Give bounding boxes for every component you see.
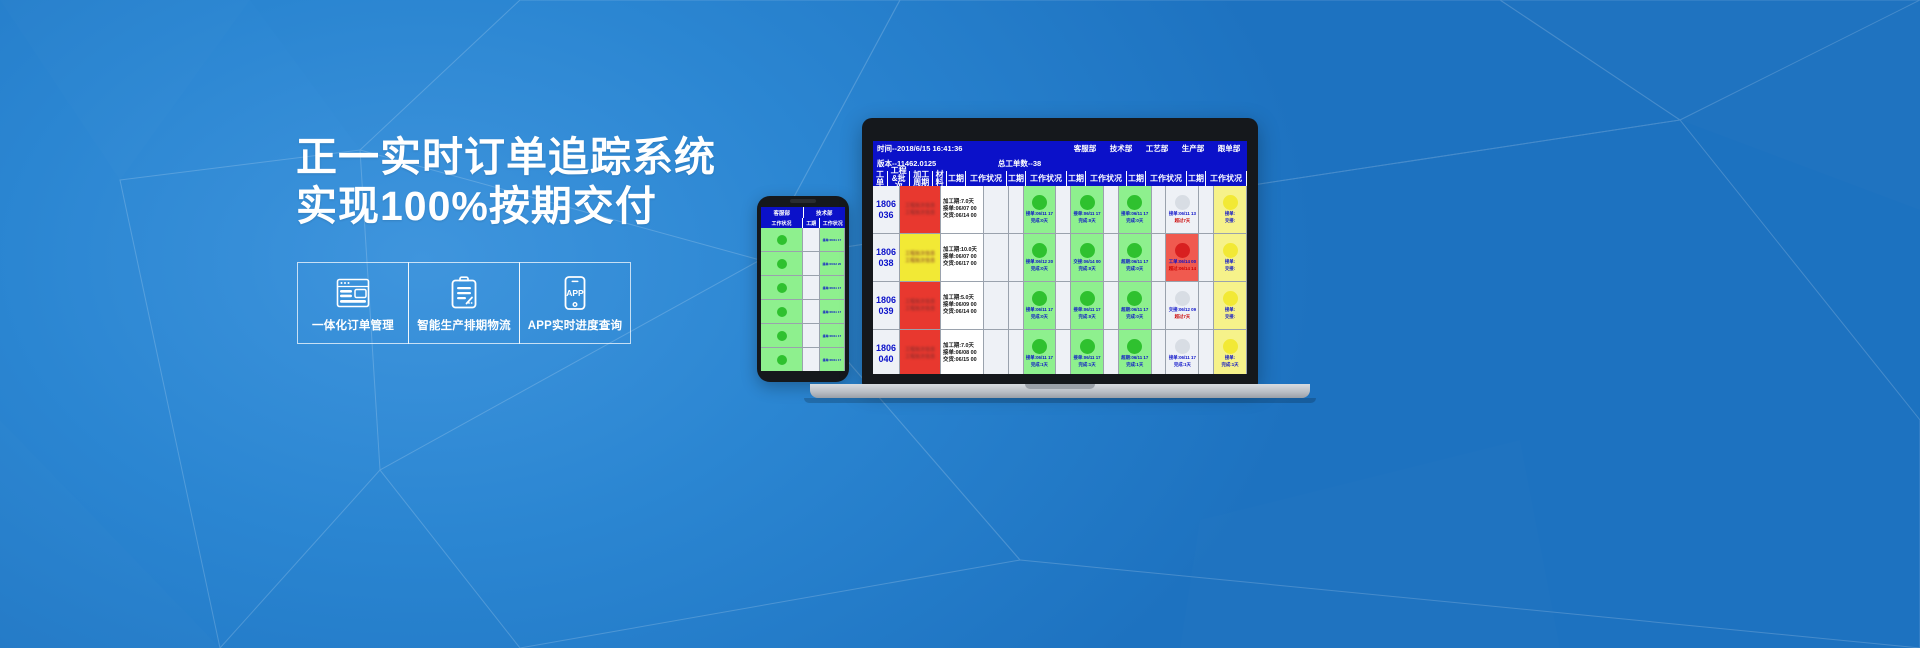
status-note-secondary: 完成:0天: [1126, 314, 1143, 320]
phone-cell-duration: [803, 252, 820, 275]
status-note-primary: 接单:06/11 17: [1169, 355, 1196, 361]
col-work-status-5: 工作状况: [1206, 171, 1247, 186]
cell-work-status-2[interactable]: 接单:06/11 17完成:0天: [1071, 186, 1104, 233]
order-no-bottom: 039: [879, 306, 894, 317]
project-batch-text: 工程批次信息工程批次信息: [905, 203, 935, 217]
cell-duration-4: [1152, 234, 1167, 281]
received-date: 接单:06/09 00: [943, 302, 977, 309]
order-no-bottom: 036: [879, 210, 894, 221]
phone-status-note: 接单:06/11 17: [823, 310, 842, 314]
delivery-date: 交货:06/14 00: [943, 213, 977, 220]
page-title: 正一实时订单追踪系统 实现100%按期交付: [296, 133, 726, 231]
delivery-date: 交货:06/14 00: [943, 309, 977, 316]
erp-order-tracking-board: 时间--2018/6/15 16:41:36 客服部 技术部 工艺部 生产部 跟…: [873, 141, 1247, 374]
cell-work-status-5[interactable]: 接单:交接:: [1214, 282, 1247, 329]
cycle-days: 加工期:5.0天: [943, 295, 974, 302]
cell-duration-3: [1104, 330, 1119, 374]
cycle-days: 加工期:10.0天: [943, 247, 977, 254]
cell-material: [984, 330, 1009, 374]
cell-work-status-1[interactable]: 接单:06/11 17完成:0天: [1024, 282, 1057, 329]
status-note-secondary: 完成:1天: [1222, 362, 1239, 368]
board-column-header: 工单 工程&批次 加工周期 材料 工期工作状况工期工作状况工期工作状况工期工作状…: [873, 171, 1247, 186]
phone-status-note: 接单:06/11 17: [823, 334, 842, 338]
status-indicator-green: [1032, 291, 1047, 306]
feature-label: 一体化订单管理: [312, 317, 394, 333]
laptop-screen: 时间--2018/6/15 16:41:36 客服部 技术部 工艺部 生产部 跟…: [873, 141, 1247, 374]
phone-cell-work-status-left[interactable]: [761, 348, 803, 371]
cell-work-status-3[interactable]: 超期:06/11 17完成:0天: [1119, 234, 1152, 281]
phone-table-row[interactable]: 接单:06/11 17: [761, 276, 845, 300]
cycle-days: 加工期:7.0天: [943, 343, 974, 350]
status-note-secondary: 完成:0天: [1079, 314, 1096, 320]
cell-material: [984, 282, 1009, 329]
cell-order-no: 1806036: [873, 186, 900, 233]
headline-line-2: 实现100%按期交付: [296, 182, 726, 231]
status-indicator-green: [777, 355, 787, 365]
phone-dept-technical: 技术部: [804, 207, 846, 218]
cell-work-status-4[interactable]: 交接:06/12 09超过7天: [1166, 282, 1199, 329]
phone-erp-board: 客服部 技术部 工作状况 工期 工作状况 接单:06/11 17接单:06/12…: [761, 207, 845, 371]
cell-work-status-2[interactable]: 交接:06/14 00完成:0天: [1071, 234, 1104, 281]
hero-banner: 正一实时订单追踪系统 实现100%按期交付 一体化订单管理: [0, 0, 1920, 648]
feature-label: 智能生产排期物流: [417, 317, 511, 333]
cycle-days: 加工期:7.0天: [943, 199, 974, 206]
phone-cell-work-status-left[interactable]: [761, 228, 803, 251]
cell-cycle: 加工期:10.0天接单:06/07 00交货:06/17 00: [941, 234, 984, 281]
status-indicator-green: [1032, 195, 1047, 210]
status-note-primary: 接单:06/11 17: [1026, 355, 1053, 361]
status-indicator-gray: [1175, 291, 1190, 306]
phone-col-work-status-2: 工作状况: [820, 218, 845, 228]
status-note-secondary: 交接:: [1225, 218, 1235, 224]
status-indicator-yellow: [1223, 291, 1238, 306]
phone-cell-work-status-left[interactable]: [761, 324, 803, 347]
cell-project-batch: 工程批次信息工程批次信息: [900, 330, 941, 374]
order-no-top: 1806: [876, 343, 896, 354]
cell-duration-3: [1104, 186, 1119, 233]
status-indicator-gray: [1175, 339, 1190, 354]
phone-status-note: 接单:06/11 17: [823, 238, 842, 242]
mobile-app-icon: APP: [562, 273, 588, 313]
phone-row-list: 接单:06/11 17接单:06/12 20接单:06/11 17接单:06/1…: [761, 228, 845, 371]
status-indicator-green: [1127, 243, 1142, 258]
phone-cell-duration: [803, 348, 820, 371]
phone-cell-work-status-left[interactable]: [761, 300, 803, 323]
status-indicator-green: [1032, 339, 1047, 354]
status-indicator-green: [1080, 195, 1095, 210]
phone-col-work-status-1: 工作状况: [761, 218, 803, 228]
status-note-secondary: 完成:0天: [1126, 218, 1143, 224]
cell-work-status-2[interactable]: 接单:06/11 17完成:1天: [1071, 330, 1104, 374]
col-duration-2: 工期: [1007, 171, 1026, 186]
status-note-secondary: 完成:0天: [1031, 218, 1048, 224]
cell-duration-4: [1152, 330, 1167, 374]
col-duration-1: 工期: [947, 171, 966, 186]
status-indicator-green: [777, 259, 787, 269]
dept-production: 生产部: [1175, 141, 1211, 156]
status-indicator-green: [1127, 339, 1142, 354]
status-note-primary: 超期:06/11 17: [1121, 307, 1148, 313]
phone-status-note: 接单:06/11 17: [823, 358, 842, 362]
phone-cell-duration: [803, 300, 820, 323]
status-indicator-green: [1080, 339, 1095, 354]
status-note-primary: 接单:06/11 17: [1074, 211, 1101, 217]
status-note-primary: 接单:06/11 17: [1121, 211, 1148, 217]
dept-process: 工艺部: [1139, 141, 1175, 156]
cell-duration-1: [1009, 330, 1024, 374]
cell-work-status-5[interactable]: 接单:完成:1天: [1214, 330, 1247, 374]
col-order-no: 工单: [873, 171, 888, 186]
cell-duration-4: [1152, 282, 1167, 329]
status-indicator-green: [1032, 243, 1047, 258]
status-indicator-yellow: [1223, 243, 1238, 258]
dashboard-icon: [336, 273, 370, 313]
received-date: 接单:06/07 00: [943, 206, 977, 213]
status-note-primary: 接单:06/11 17: [1074, 307, 1101, 313]
order-no-top: 1806: [876, 199, 896, 210]
cell-duration-4: [1152, 186, 1167, 233]
phone-cell-duration: [803, 324, 820, 347]
status-note-primary: 接单:06/11 17: [1074, 355, 1101, 361]
status-note-secondary: 完成:1天: [1031, 362, 1048, 368]
phone-status-note: 接单:06/12 20: [823, 262, 842, 266]
cell-work-status-4[interactable]: 接单:06/11 13超过7天: [1166, 186, 1199, 233]
status-indicator-green: [1127, 195, 1142, 210]
phone-status-note: 接单:06/11 17: [823, 286, 842, 290]
phone-col-duration: 工期: [803, 218, 820, 228]
phone-cell-work-status-right[interactable]: 接单:06/11 17: [820, 300, 845, 323]
table-row[interactable]: 1806039工程批次信息工程批次信息加工期:5.0天接单:06/09 00交货…: [873, 282, 1247, 330]
cell-duration-5: [1199, 330, 1214, 374]
status-indicator-red: [1175, 243, 1190, 258]
received-date: 接单:06/08 00: [943, 350, 977, 357]
phone-column-header: 工作状况 工期 工作状况: [761, 218, 845, 228]
cell-work-status-1[interactable]: 接单:06/12 20完成:0天: [1024, 234, 1057, 281]
cell-duration-2: [1056, 186, 1071, 233]
col-work-status-3: 工作状况: [1086, 171, 1127, 186]
col-duration-5: 工期: [1187, 171, 1206, 186]
project-batch-text: 工程批次信息工程批次信息: [905, 347, 935, 361]
status-indicator-yellow: [1223, 339, 1238, 354]
phone-cell-duration: [803, 228, 820, 251]
clipboard-icon: [449, 273, 479, 313]
table-row[interactable]: 1806038工程批次信息工程批次信息加工期:10.0天接单:06/07 00交…: [873, 234, 1247, 282]
cell-cycle: 加工期:5.0天接单:06/09 00交货:06/14 00: [941, 282, 984, 329]
dept-subheader-group: 工期工作状况工期工作状况工期工作状况工期工作状况工期工作状况: [947, 171, 1247, 186]
project-batch-text: 工程批次信息工程批次信息: [905, 299, 935, 313]
smartphone-device: 客服部 技术部 工作状况 工期 工作状况 接单:06/11 17接单:06/12…: [757, 196, 849, 382]
cell-project-batch: 工程批次信息工程批次信息: [900, 186, 941, 233]
status-note-primary: 超期:06/11 17: [1121, 259, 1148, 265]
laptop-base: [810, 384, 1310, 398]
dept-merchandising: 跟单部: [1211, 141, 1247, 156]
phone-cell-work-status-right[interactable]: 接单:06/12 20: [820, 252, 845, 275]
cell-work-status-5[interactable]: 接单:交接:: [1214, 234, 1247, 281]
feature-production-scheduling[interactable]: 智能生产排期物流: [408, 262, 520, 344]
cell-duration-2: [1056, 282, 1071, 329]
cell-work-status-3[interactable]: 超期:06/11 17完成:1天: [1119, 330, 1152, 374]
phone-cell-work-status-right[interactable]: 接单:06/11 17: [820, 324, 845, 347]
board-status-bar-second: 版本--11462.0125 总工单数--38: [873, 156, 1247, 171]
dept-customer-service: 客服部: [1067, 141, 1103, 156]
phone-speaker: [790, 199, 816, 203]
status-note-primary: 接单:06/12 20: [1026, 259, 1053, 265]
cell-duration-3: [1104, 282, 1119, 329]
status-note-primary: 交接:06/14 00: [1073, 259, 1100, 265]
project-batch-text: 工程批次信息工程批次信息: [905, 251, 935, 265]
status-note-secondary: 超过7天: [1175, 218, 1191, 224]
status-note-primary: 超期:06/11 17: [1121, 355, 1148, 361]
status-note-secondary: 完成:1天: [1079, 362, 1096, 368]
status-indicator-green: [777, 235, 787, 245]
status-indicator-green: [777, 307, 787, 317]
col-work-status-4: 工作状况: [1146, 171, 1187, 186]
status-note-secondary: 完成:1天: [1126, 362, 1143, 368]
cell-duration-5: [1199, 186, 1214, 233]
col-work-status-2: 工作状况: [1026, 171, 1067, 186]
cell-duration-1: [1009, 186, 1024, 233]
phone-cell-work-status-left[interactable]: [761, 252, 803, 275]
laptop-device: 时间--2018/6/15 16:41:36 客服部 技术部 工艺部 生产部 跟…: [862, 118, 1318, 413]
cell-material: [984, 186, 1009, 233]
cell-work-status-5[interactable]: 接单:交接:: [1214, 186, 1247, 233]
phone-cell-work-status-right[interactable]: 接单:06/11 17: [820, 348, 845, 371]
status-note-secondary: 交接:: [1225, 314, 1235, 320]
col-material: 材料: [933, 171, 947, 186]
status-note-secondary: 完成:0天: [1031, 266, 1048, 272]
phone-cell-work-status-left[interactable]: [761, 276, 803, 299]
received-date: 接单:06/07 00: [943, 254, 977, 261]
cell-order-no: 1806040: [873, 330, 900, 374]
phone-table-row[interactable]: 接单:06/11 17: [761, 228, 845, 252]
phone-table-row[interactable]: 接单:06/11 17: [761, 324, 845, 348]
headline-line-1: 正一实时订单追踪系统: [296, 134, 716, 180]
table-row[interactable]: 1806040工程批次信息工程批次信息加工期:7.0天接单:06/08 00交货…: [873, 330, 1247, 374]
delivery-date: 交货:06/17 00: [943, 261, 977, 268]
status-note-secondary: 完成:1天: [1174, 362, 1191, 368]
cell-order-no: 1806039: [873, 282, 900, 329]
laptop-lid: 时间--2018/6/15 16:41:36 客服部 技术部 工艺部 生产部 跟…: [862, 118, 1258, 386]
cell-work-status-2[interactable]: 接单:06/11 17完成:0天: [1071, 282, 1104, 329]
status-note-secondary: 交接:: [1225, 266, 1235, 272]
board-status-bar-top: 时间--2018/6/15 16:41:36 客服部 技术部 工艺部 生产部 跟…: [873, 141, 1247, 156]
status-time: 时间--2018/6/15 16:41:36: [873, 141, 1067, 156]
status-note-primary: 接单:: [1225, 259, 1235, 265]
status-note-secondary: 完成:0天: [1079, 218, 1096, 224]
phone-cell-work-status-right[interactable]: 接单:06/11 17: [820, 276, 845, 299]
status-note-secondary: 超过7天: [1175, 314, 1191, 320]
dept-technical: 技术部: [1103, 141, 1139, 156]
phone-cell-duration: [803, 276, 820, 299]
phone-department-header: 客服部 技术部: [761, 207, 845, 218]
order-no-top: 1806: [876, 247, 896, 258]
phone-dept-customer-service: 客服部: [761, 207, 804, 218]
col-duration-3: 工期: [1067, 171, 1086, 186]
status-indicator-green: [777, 331, 787, 341]
phone-screen: 客服部 技术部 工作状况 工期 工作状况 接单:06/11 17接单:06/12…: [761, 207, 845, 371]
status-note-primary: 接单:06/11 17: [1026, 211, 1053, 217]
cell-order-no: 1806038: [873, 234, 900, 281]
status-note-primary: 接单:: [1225, 211, 1235, 217]
cell-work-status-3[interactable]: 接单:06/11 17完成:0天: [1119, 186, 1152, 233]
laptop-foot-shadow: [804, 398, 1316, 403]
col-work-status-1: 工作状况: [966, 171, 1007, 186]
status-indicator-green: [1080, 243, 1095, 258]
cell-duration-5: [1199, 282, 1214, 329]
board-row-list: 1806036工程批次信息工程批次信息加工期:7.0天接单:06/07 00交货…: [873, 186, 1247, 374]
cell-work-status-1[interactable]: 接单:06/11 17完成:0天: [1024, 186, 1057, 233]
status-indicator-green: [777, 283, 787, 293]
status-note-secondary: 完成:0天: [1126, 266, 1143, 272]
status-indicator-yellow: [1223, 195, 1238, 210]
order-no-bottom: 040: [879, 354, 894, 365]
cell-material: [984, 234, 1009, 281]
status-note-secondary: 完成:0天: [1031, 314, 1048, 320]
cell-work-status-1[interactable]: 接单:06/11 17完成:1天: [1024, 330, 1057, 374]
status-note-primary: 工单:06/14 00: [1169, 259, 1196, 265]
col-cycle: 加工周期: [910, 171, 933, 186]
cell-project-batch: 工程批次信息工程批次信息: [900, 282, 941, 329]
status-indicator-gray: [1175, 195, 1190, 210]
feature-label: APP实时进度查询: [528, 317, 622, 333]
col-duration-4: 工期: [1127, 171, 1146, 186]
cell-work-status-4[interactable]: 工单:06/14 00超过:06/14 14: [1166, 234, 1199, 281]
cell-work-status-3[interactable]: 超期:06/11 17完成:0天: [1119, 282, 1152, 329]
phone-table-row[interactable]: 接单:06/11 17: [761, 348, 845, 371]
cell-duration-2: [1056, 330, 1071, 374]
col-project-batch: 工程&批次: [888, 171, 910, 186]
feature-app-progress-query[interactable]: APP APP实时进度查询: [519, 262, 631, 344]
cell-project-batch: 工程批次信息工程批次信息: [900, 234, 941, 281]
cell-duration-5: [1199, 234, 1214, 281]
phone-table-row[interactable]: 接单:06/12 20: [761, 252, 845, 276]
status-note-secondary: 超过:06/14 14: [1169, 266, 1196, 272]
cell-cycle: 加工期:7.0天接单:06/07 00交货:06/14 00: [941, 186, 984, 233]
order-no-bottom: 038: [879, 258, 894, 269]
status-total-orders: 总工单数--38: [972, 156, 1067, 171]
cell-duration-1: [1009, 234, 1024, 281]
status-note-primary: 接单:06/11 13: [1169, 211, 1196, 217]
status-note-primary: 接单:06/11 17: [1026, 307, 1053, 313]
status-note-primary: 交接:06/12 09: [1169, 307, 1196, 313]
status-note-secondary: 完成:0天: [1079, 266, 1096, 272]
phone-table-row[interactable]: 接单:06/11 17: [761, 300, 845, 324]
svg-text:APP: APP: [566, 288, 584, 298]
cell-duration-1: [1009, 282, 1024, 329]
cell-duration-3: [1104, 234, 1119, 281]
cell-work-status-4[interactable]: 接单:06/11 17完成:1天: [1166, 330, 1199, 374]
phone-cell-work-status-right[interactable]: 接单:06/11 17: [820, 228, 845, 251]
delivery-date: 交货:06/15 00: [943, 357, 977, 364]
feature-order-management[interactable]: 一体化订单管理: [297, 262, 409, 344]
status-indicator-green: [1080, 291, 1095, 306]
cell-cycle: 加工期:7.0天接单:06/08 00交货:06/15 00: [941, 330, 984, 374]
status-indicator-green: [1127, 291, 1142, 306]
table-row[interactable]: 1806036工程批次信息工程批次信息加工期:7.0天接单:06/07 00交货…: [873, 186, 1247, 234]
status-note-primary: 接单:: [1225, 307, 1235, 313]
order-no-top: 1806: [876, 295, 896, 306]
cell-duration-2: [1056, 234, 1071, 281]
feature-list: 一体化订单管理 智能生产排期物流: [297, 262, 630, 344]
hero-copy: 正一实时订单追踪系统 实现100%按期交付: [296, 133, 726, 231]
status-note-primary: 接单:: [1225, 355, 1235, 361]
